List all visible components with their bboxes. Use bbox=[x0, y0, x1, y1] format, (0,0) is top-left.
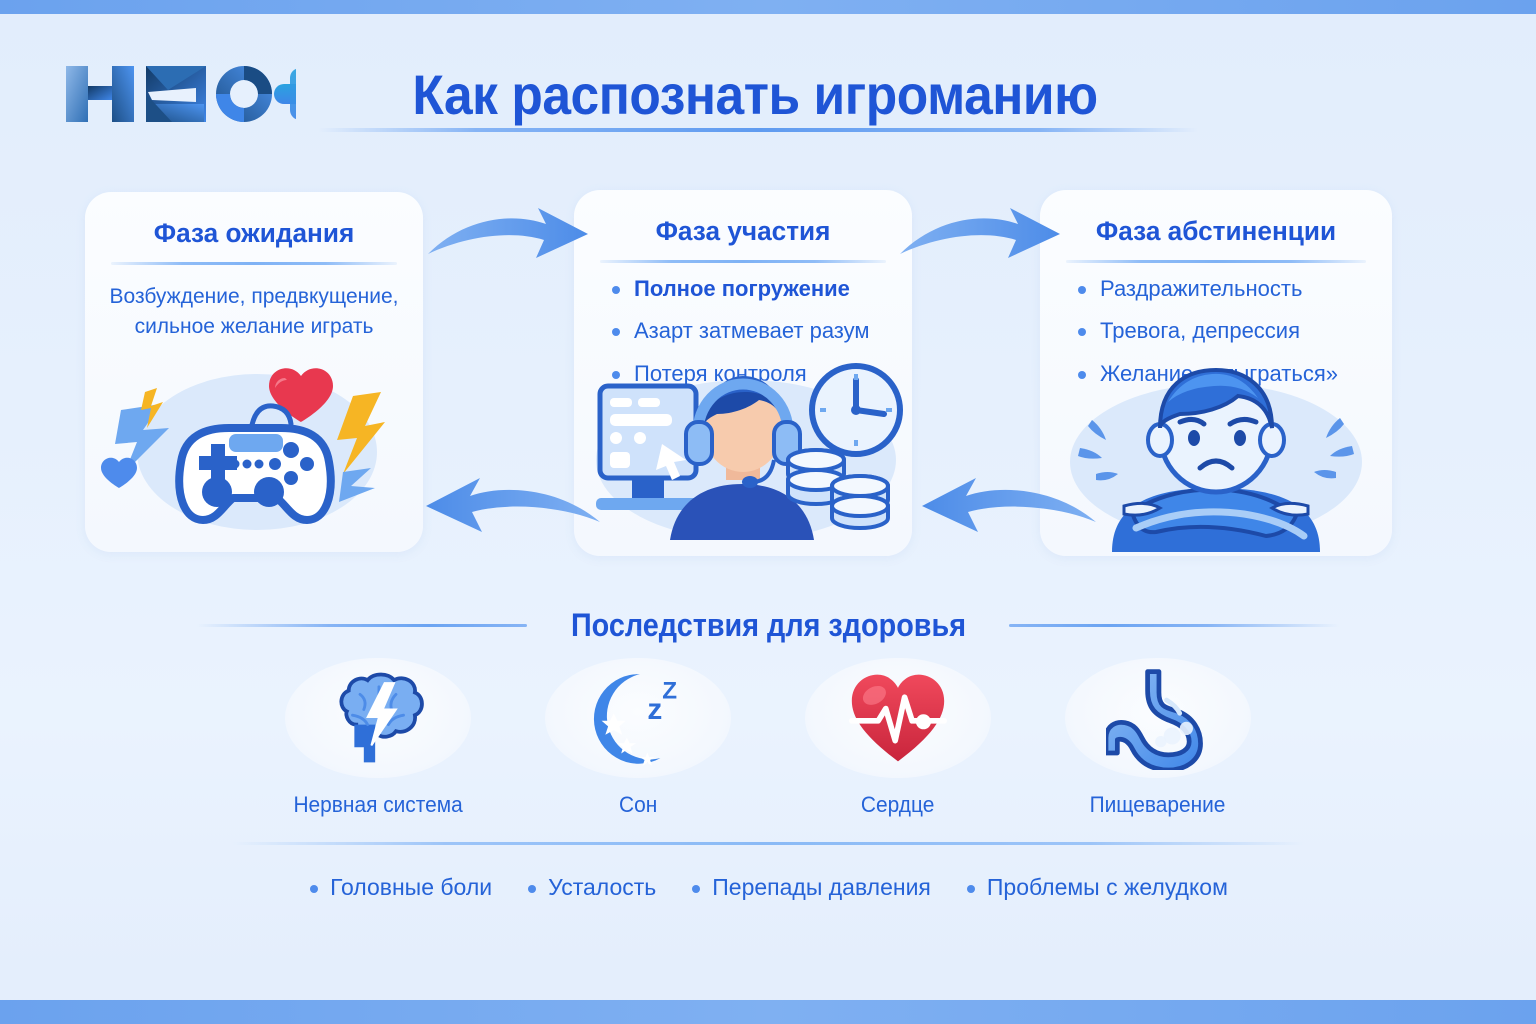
list-item: Азарт затмевает разум bbox=[608, 318, 898, 344]
health-item-label: Сон bbox=[619, 792, 657, 818]
health-item-nervous-system[interactable]: Нервная система bbox=[279, 658, 477, 843]
symptoms-row: Головные боли Усталость Перепады давлени… bbox=[0, 862, 1536, 912]
phase-card-waiting[interactable]: Фаза ожидания Возбуждение, предвкущение,… bbox=[85, 192, 423, 552]
heart-ecg-icon bbox=[805, 658, 991, 778]
symptom-item: Перепады давления bbox=[690, 874, 931, 901]
phase-title: Фаза ожидания bbox=[90, 218, 418, 249]
header-rule-right bbox=[1009, 624, 1339, 627]
health-item-heart[interactable]: Сердце bbox=[799, 658, 997, 843]
brain-lightning-icon bbox=[285, 658, 471, 778]
svg-text:z: z bbox=[647, 693, 662, 726]
health-item-label: Пищеварение bbox=[1090, 792, 1226, 818]
bottom-accent-band bbox=[0, 1000, 1536, 1024]
stomach-icon bbox=[1065, 658, 1251, 778]
phase-title: Фаза абстиненции bbox=[1045, 216, 1386, 247]
symptom-item: Усталость bbox=[526, 874, 656, 901]
consequences-section: Последствия для здоровья Нервна bbox=[0, 600, 1536, 930]
arrow-left-icon bbox=[404, 472, 604, 542]
card-divider bbox=[111, 262, 397, 265]
health-item-sleep[interactable]: Z z Сон bbox=[539, 658, 737, 843]
phase-cards: Фаза ожидания Возбуждение, предвкущение,… bbox=[0, 192, 1536, 564]
list-item: Раздражительность bbox=[1074, 276, 1378, 302]
infographic-page: Как распознать игроманию Фаза ожидания В… bbox=[0, 0, 1536, 1024]
phase-title: Фаза участия bbox=[579, 216, 907, 247]
top-accent-band bbox=[0, 0, 1536, 14]
health-item-digestion[interactable]: Пищеварение bbox=[1059, 658, 1257, 843]
arrow-left-icon bbox=[900, 472, 1100, 542]
title-underline bbox=[318, 128, 1198, 132]
page-title: Как распознать игроманию bbox=[364, 54, 1146, 134]
consequences-header: Последствия для здоровья bbox=[0, 600, 1536, 650]
list-item: Полное погружение bbox=[608, 276, 898, 302]
phase-description: Возбуждение, предвкущение, сильное желан… bbox=[99, 282, 409, 343]
gamepad-hearts-icon bbox=[85, 352, 423, 552]
brand-logo bbox=[36, 44, 296, 122]
symptom-item: Головные боли bbox=[308, 874, 492, 901]
header: Как распознать игроманию bbox=[0, 14, 1536, 134]
svg-text:Z: Z bbox=[662, 677, 677, 704]
gamer-headset-clock-coins-icon bbox=[574, 356, 912, 556]
symptom-item: Проблемы с желудком bbox=[965, 874, 1228, 901]
arrow-right-icon bbox=[896, 196, 1064, 266]
header-rule-left bbox=[197, 624, 527, 627]
health-icon-row: Нервная система Z z Сон bbox=[0, 658, 1536, 843]
list-item: Тревога, депрессия bbox=[1074, 318, 1378, 344]
card-divider bbox=[1066, 260, 1366, 263]
phase-card-participation[interactable]: Фаза участия Полное погружение Азарт зат… bbox=[574, 190, 912, 556]
card-divider bbox=[600, 260, 886, 263]
moon-zzz-icon: Z z bbox=[545, 658, 731, 778]
consequences-title: Последствия для здоровья bbox=[570, 607, 965, 644]
arrow-right-icon bbox=[424, 196, 592, 266]
health-item-label: Сердце bbox=[861, 792, 934, 818]
symptoms-divider bbox=[232, 842, 1304, 845]
health-item-label: Нервная система bbox=[293, 792, 462, 818]
